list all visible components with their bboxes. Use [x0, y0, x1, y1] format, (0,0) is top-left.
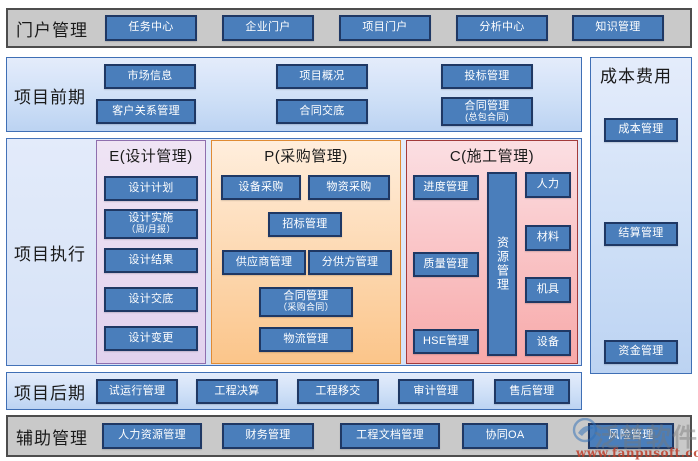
portal-button-1[interactable]: 企业门户	[222, 15, 314, 41]
portal-label: 门户管理	[16, 16, 88, 40]
pre-phase-button-5-sub: (总包合同)	[465, 113, 509, 123]
design-button-1[interactable]: 设计实施 （周/月报）	[104, 209, 198, 239]
pre-phase-button-3[interactable]: 客户关系管理	[96, 99, 196, 124]
post-phase-button-0[interactable]: 试运行管理	[96, 379, 178, 404]
column-construction-title: C(施工管理)	[407, 145, 577, 166]
post-phase-button-1[interactable]: 工程决算	[196, 379, 278, 404]
procurement-button-5-sub: （采购合同）	[278, 303, 334, 313]
portal-button-0[interactable]: 任务中心	[105, 15, 197, 41]
procurement-button-2[interactable]: 招标管理	[268, 212, 342, 237]
pre-phase-button-1[interactable]: 项目概况	[276, 64, 368, 89]
design-button-4[interactable]: 设计变更	[104, 326, 198, 351]
support-button-1[interactable]: 财务管理	[222, 423, 314, 449]
portal-button-2[interactable]: 项目门户	[339, 15, 431, 41]
post-phase-button-4[interactable]: 售后管理	[494, 379, 570, 404]
support-button-3[interactable]: 协同OA	[462, 423, 548, 449]
support-button-2[interactable]: 工程文档管理	[340, 423, 440, 449]
cost-panel	[590, 57, 692, 374]
column-procurement-title: P(采购管理)	[212, 145, 400, 166]
cost-label: 成本费用	[600, 62, 672, 86]
procurement-button-6[interactable]: 物流管理	[259, 327, 353, 352]
construction-button-1[interactable]: 质量管理	[413, 252, 479, 277]
construction-button-0[interactable]: 进度管理	[413, 175, 479, 200]
procurement-button-4[interactable]: 分供方管理	[308, 250, 392, 275]
diagram-canvas: 门户管理 任务中心 企业门户 项目门户 分析中心 知识管理 项目前期 市场信息 …	[0, 0, 698, 461]
post-phase-button-2[interactable]: 工程移交	[297, 379, 379, 404]
procurement-button-5[interactable]: 合同管理 （采购合同）	[259, 287, 353, 317]
column-design-title: E(设计管理)	[97, 145, 205, 166]
portal-button-3[interactable]: 分析中心	[456, 15, 548, 41]
support-label: 辅助管理	[16, 424, 88, 448]
pre-phase-button-2[interactable]: 投标管理	[441, 64, 533, 89]
design-button-1-sub: （周/月报）	[126, 225, 175, 235]
design-button-0[interactable]: 设计计划	[104, 176, 198, 201]
post-phase-button-3[interactable]: 审计管理	[398, 379, 474, 404]
construction-button-2[interactable]: HSE管理	[413, 329, 479, 354]
pre-phase-button-5-main: 合同管理	[464, 101, 509, 113]
procurement-button-0[interactable]: 设备采购	[221, 175, 301, 200]
pre-phase-button-0[interactable]: 市场信息	[104, 64, 196, 89]
post-phase-label: 项目后期	[14, 379, 86, 403]
pre-phase-label: 项目前期	[14, 83, 86, 107]
pre-phase-button-5[interactable]: 合同管理 (总包合同)	[441, 97, 533, 126]
procurement-button-3[interactable]: 供应商管理	[222, 250, 306, 275]
pre-phase-button-4[interactable]: 合同交底	[276, 99, 368, 124]
portal-button-4[interactable]: 知识管理	[572, 15, 664, 41]
construction-button-7[interactable]: 设备	[525, 330, 571, 356]
construction-button-4[interactable]: 人力	[525, 172, 571, 198]
construction-resource-button[interactable]: 资源管理	[487, 172, 517, 356]
cost-button-1[interactable]: 结算管理	[604, 222, 678, 246]
cost-button-0[interactable]: 成本管理	[604, 118, 678, 142]
procurement-button-1[interactable]: 物资采购	[308, 175, 390, 200]
construction-button-5[interactable]: 材料	[525, 225, 571, 251]
cost-button-2[interactable]: 资金管理	[604, 340, 678, 364]
support-button-4[interactable]: 风险管理	[588, 423, 674, 449]
design-button-3[interactable]: 设计交底	[104, 287, 198, 312]
construction-button-6[interactable]: 机具	[525, 277, 571, 303]
design-button-2[interactable]: 设计结果	[104, 248, 198, 273]
support-button-0[interactable]: 人力资源管理	[102, 423, 202, 449]
execution-label: 项目执行	[14, 240, 86, 264]
